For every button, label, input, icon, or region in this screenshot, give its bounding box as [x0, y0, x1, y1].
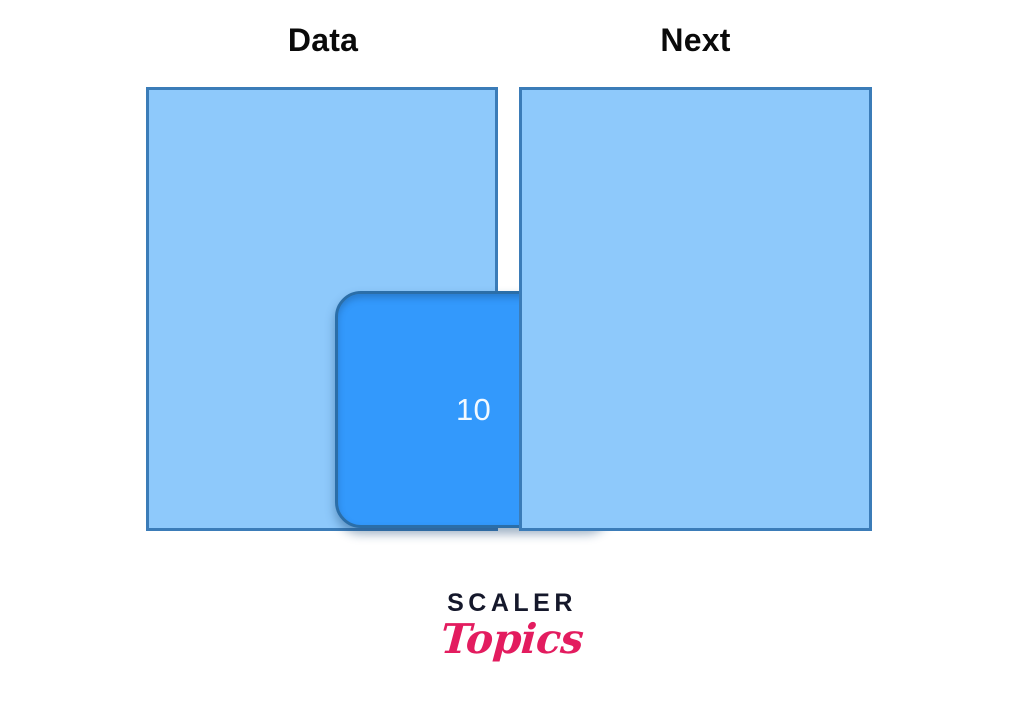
node-cell-data: 10	[146, 87, 498, 531]
cell-heading-data: Data	[148, 24, 498, 56]
brand-subword-topics: Topics	[0, 618, 1024, 661]
cell-heading-next: Next	[519, 24, 872, 56]
diagram-canvas: Data Next 10 Pointer SCALER Topics	[0, 0, 1024, 713]
value-text-data: 10	[456, 394, 491, 425]
node-cell-next: Pointer	[519, 87, 872, 531]
brand-logo: SCALER Topics	[0, 591, 1024, 661]
brand-wordmark-scaler: SCALER	[0, 591, 1024, 616]
